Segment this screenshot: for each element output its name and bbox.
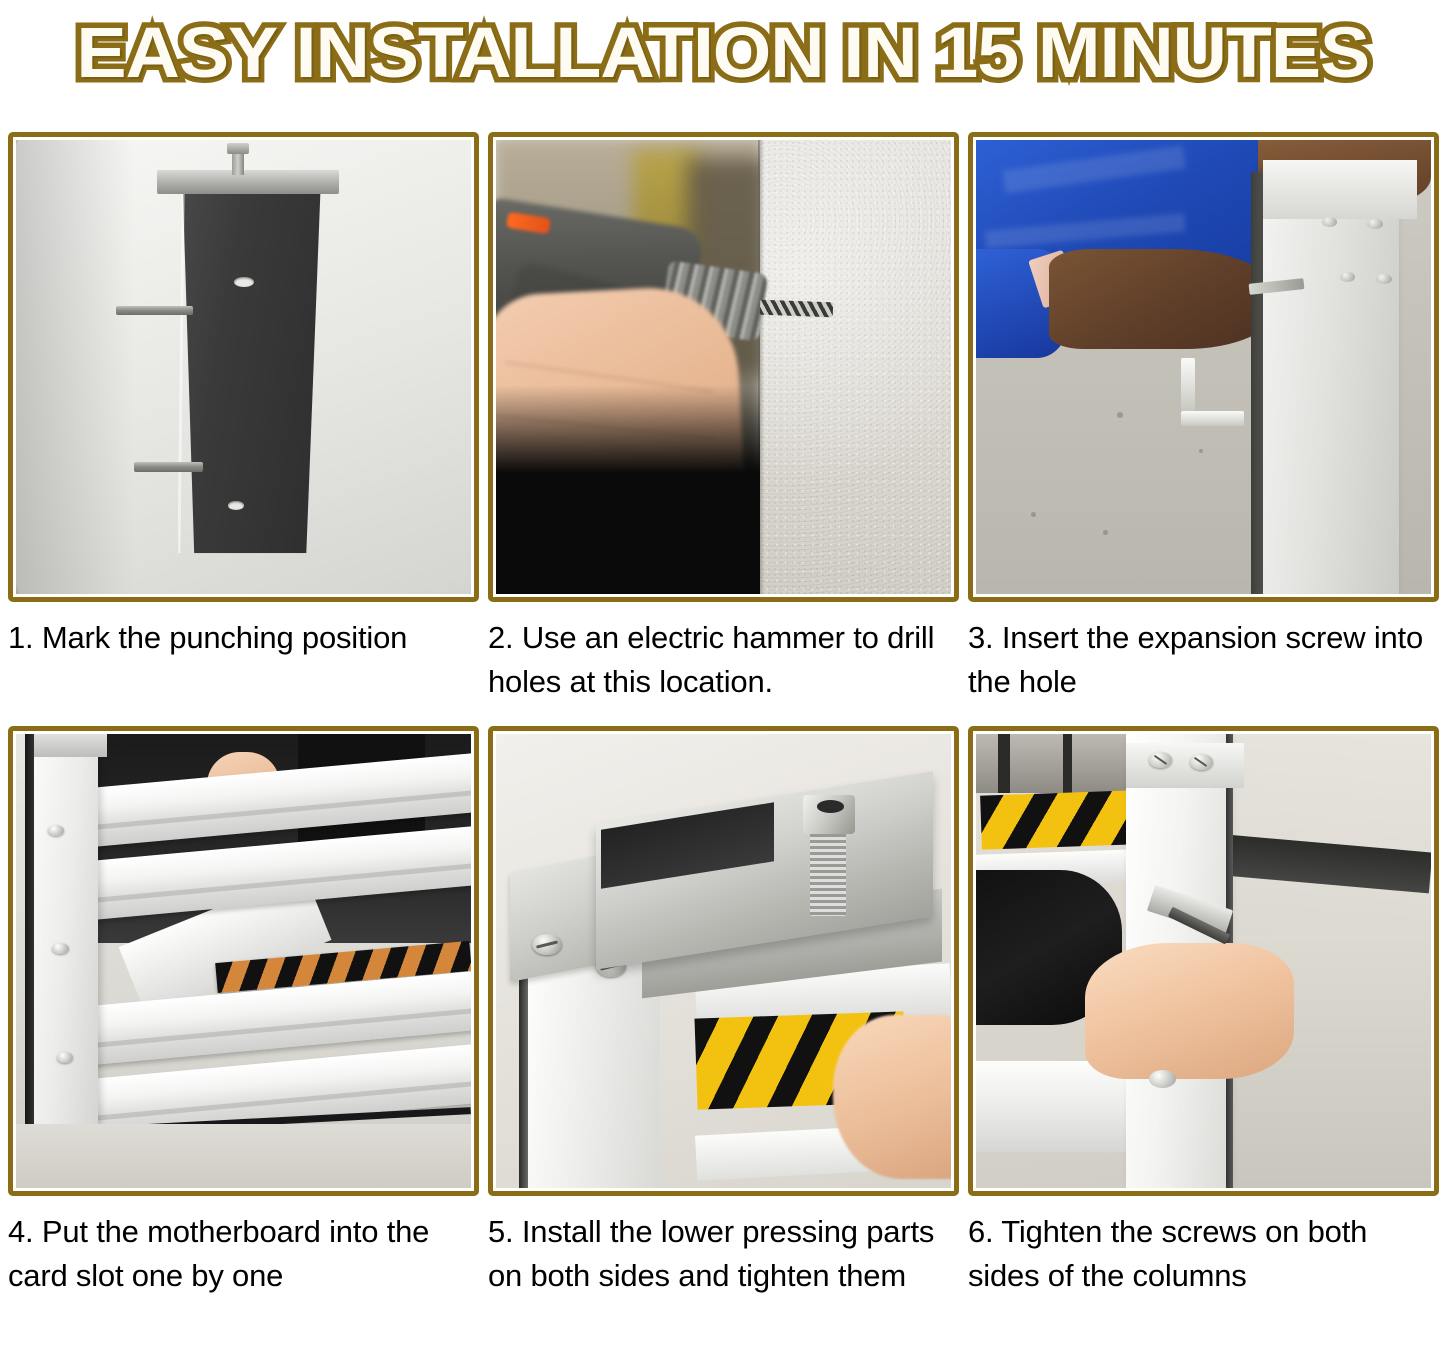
- bracket-top-plate: [157, 170, 339, 195]
- step-photo-1: [16, 140, 471, 594]
- step-photo-5: [496, 734, 951, 1188]
- worker-arm: [1049, 249, 1277, 349]
- column-bolt: [57, 1052, 73, 1063]
- allen-key-icon: [1181, 358, 1245, 426]
- side-stud-lower: [134, 462, 202, 472]
- installer-hand: [1085, 943, 1294, 1079]
- step-card-6: 6. Tighten the screws on both sides of t…: [968, 726, 1439, 1298]
- hex-bolt-thread: [810, 825, 846, 916]
- column-screw: [1149, 752, 1172, 767]
- step-photo-2: [496, 140, 951, 594]
- step-image-frame-1: [8, 132, 479, 602]
- allen-key-horizontal-arm: [1181, 411, 1245, 426]
- side-stud-upper: [116, 306, 193, 316]
- column-top-cap: [34, 734, 107, 757]
- step-card-3: 3. Insert the expansion screw into the h…: [968, 132, 1439, 704]
- column-bolt: [48, 825, 64, 836]
- step-caption-6: 6. Tighten the screws on both sides of t…: [968, 1210, 1439, 1298]
- mounting-hole-lower: [228, 501, 244, 510]
- column-base-bracket: [175, 181, 321, 553]
- equipment-bar: [998, 734, 1010, 793]
- cloth-shadow: [16, 140, 134, 594]
- aluminum-column: [1263, 167, 1400, 594]
- step-caption-4: 4. Put the motherboard into the card slo…: [8, 1210, 479, 1298]
- top-bolt-nut: [227, 143, 250, 154]
- step-photo-3: [976, 140, 1431, 594]
- step-image-frame-6: [968, 726, 1439, 1196]
- step-photo-6: [976, 734, 1431, 1188]
- column-card-slot: [34, 734, 98, 1138]
- cap-screw: [1376, 274, 1391, 284]
- background-equipment: [976, 734, 1131, 793]
- step-image-frame-4: [8, 726, 479, 1196]
- equipment-bar: [1063, 734, 1072, 793]
- floor-speck: [1031, 512, 1036, 517]
- step-caption-5: 5. Install the lower pressing parts on b…: [488, 1210, 959, 1298]
- step-card-2: 2. Use an electric hammer to drill holes…: [488, 132, 959, 704]
- page-title: EASY INSTALLATION IN 15 MINUTES: [76, 16, 1369, 92]
- step-card-1: 1. Mark the punching position: [8, 132, 479, 704]
- step-image-frame-3: [968, 132, 1439, 602]
- step-card-5: 5. Install the lower pressing parts on b…: [488, 726, 959, 1298]
- installation-infographic: EASY INSTALLATION IN 15 MINUTES: [0, 0, 1445, 1352]
- column-top-cap: [1263, 160, 1418, 219]
- step-photo-4: [16, 734, 471, 1188]
- column-bolt: [52, 943, 68, 954]
- column-screw: [1190, 754, 1213, 769]
- bracket-screw: [532, 934, 562, 955]
- step-image-frame-5: [488, 726, 959, 1196]
- floor-surface: [16, 1124, 471, 1188]
- step-caption-1: 1. Mark the punching position: [8, 616, 479, 660]
- hex-socket-icon: [817, 800, 844, 813]
- step-image-frame-2: [488, 132, 959, 602]
- column-top-cap: [1126, 743, 1244, 788]
- foreground-shadow: [496, 385, 760, 594]
- allen-key-vertical-arm: [1181, 358, 1195, 411]
- masonry-drill-bit: [760, 300, 833, 317]
- step-caption-2: 2. Use an electric hammer to drill holes…: [488, 616, 959, 704]
- mounting-hole-upper: [234, 277, 253, 287]
- header-banner: EASY INSTALLATION IN 15 MINUTES: [0, 0, 1445, 108]
- step-card-4: 4. Put the motherboard into the card slo…: [8, 726, 479, 1298]
- hazard-stripe-tape: [980, 790, 1136, 850]
- steps-grid: 1. Mark the punching position: [8, 132, 1440, 1298]
- step-caption-3: 3. Insert the expansion screw into the h…: [968, 616, 1439, 704]
- textured-wall: [760, 140, 951, 594]
- cap-screw: [1340, 272, 1355, 282]
